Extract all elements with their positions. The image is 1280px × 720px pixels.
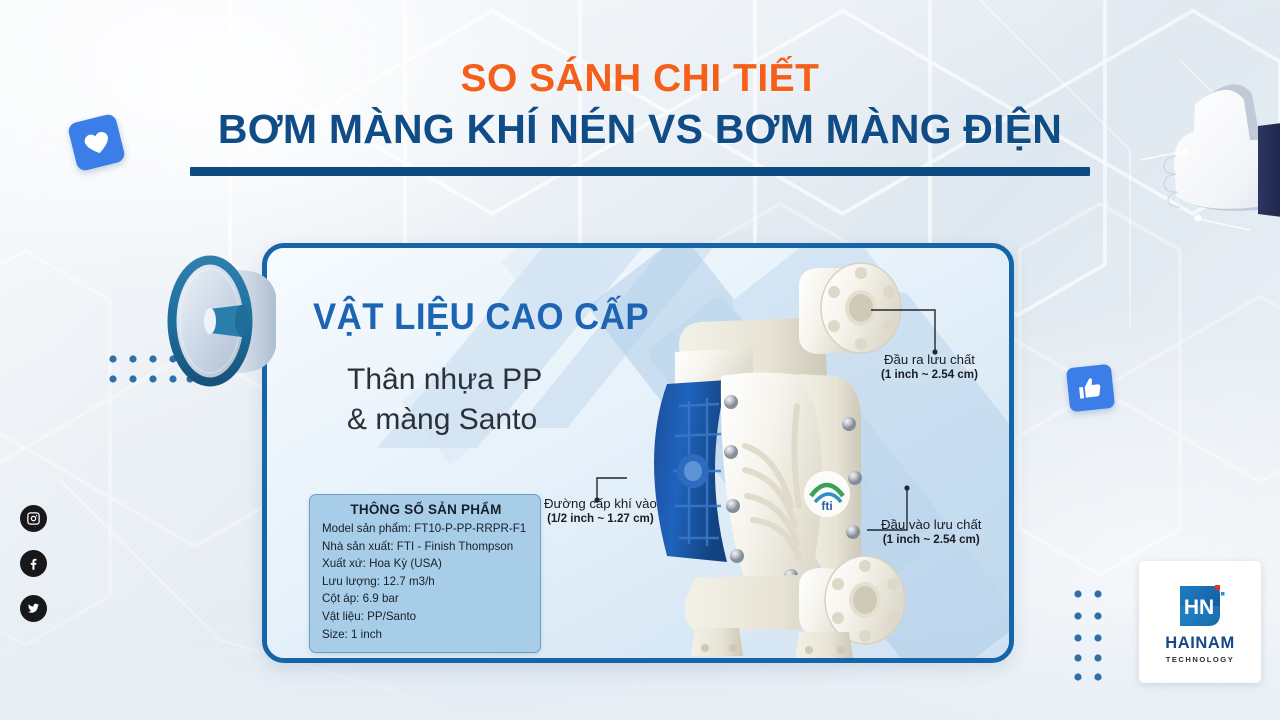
page-header: SO SÁNH CHI TIẾT BƠM MÀNG KHÍ NÉN VS BƠM… <box>0 58 1280 176</box>
title-divider <box>190 167 1090 176</box>
hainam-logo-mark: HN <box>1174 580 1226 632</box>
spec-value: FT10-P-PP-RRPR-F1 <box>414 522 526 535</box>
spec-label: Size: <box>322 628 348 641</box>
spec-value: Hoa Kỳ (USA) <box>369 557 442 570</box>
callout-air-size: (1/2 inch ~ 1.27 cm) <box>544 512 657 526</box>
spec-box-title: THÔNG SỐ SẢN PHẨM <box>322 502 530 517</box>
spec-value: FTI - Finish Thompson <box>397 540 513 553</box>
twitter-icon[interactable] <box>20 595 47 622</box>
instagram-icon[interactable] <box>20 505 47 532</box>
spec-row: Nhà sản xuất: FTI - Finish Thompson <box>322 538 530 556</box>
spec-value: 6.9 bar <box>363 592 399 605</box>
logo-company-name: HAINAM <box>1165 634 1235 653</box>
spec-label: Cột áp: <box>322 592 359 605</box>
spec-value: 12.7 m3/h <box>383 575 435 588</box>
spec-label: Vật liệu: <box>322 610 364 623</box>
spec-label: Lưu lượng: <box>322 575 380 588</box>
logo-tagline: TECHNOLOGY <box>1166 655 1235 664</box>
pump-badge-text: fti <box>821 499 832 513</box>
callout-outlet-size: (1 inch ~ 2.54 cm) <box>881 368 978 382</box>
company-logo: HN HAINAM TECHNOLOGY <box>1139 561 1261 683</box>
card-subheading-line1: Thân nhựa PP <box>347 360 542 400</box>
card-subheading: Thân nhựa PP & màng Santo <box>347 360 542 439</box>
callout-air-title: Đường cấp khí vào <box>544 496 657 512</box>
spec-row: Cột áp: 6.9 bar <box>322 590 530 608</box>
callout-outlet-title: Đầu ra lưu chất <box>881 352 978 368</box>
page-title-top: SO SÁNH CHI TIẾT <box>0 58 1280 100</box>
spec-row: Xuất xứ: Hoa Kỳ (USA) <box>322 555 530 573</box>
product-card: VẬT LIỆU CAO CẤP Thân nhựa PP & màng San… <box>262 243 1014 663</box>
spec-box: THÔNG SỐ SẢN PHẨM Model sản phẩm: FT10-P… <box>309 494 541 653</box>
social-rail <box>20 505 47 622</box>
facebook-icon[interactable] <box>20 550 47 577</box>
callout-air-inlet: Đường cấp khí vào (1/2 inch ~ 1.27 cm) <box>544 496 657 526</box>
logo-mark-text: HN <box>1184 596 1214 619</box>
dot-grid-right <box>1072 588 1110 682</box>
spec-label: Model sản phẩm: <box>322 522 411 535</box>
megaphone-icon <box>148 243 278 398</box>
callout-fluid-outlet: Đầu ra lưu chất (1 inch ~ 2.54 cm) <box>881 352 978 382</box>
diaphragm-pump-image: fti <box>649 256 929 663</box>
thumbs-up-reaction-icon <box>1066 364 1115 412</box>
card-subheading-line2: & màng Santo <box>347 400 542 440</box>
spec-value: 1 inch <box>351 628 382 641</box>
spec-row: Lưu lượng: 12.7 m3/h <box>322 573 530 591</box>
spec-row: Size: 1 inch <box>322 626 530 644</box>
spec-label: Xuất xứ: <box>322 557 366 570</box>
spec-value: PP/Santo <box>367 610 416 623</box>
card-heading: VẬT LIỆU CAO CẤP <box>313 296 649 338</box>
callout-inlet-title: Đầu vào lưu chất <box>881 517 981 533</box>
callout-fluid-inlet: Đầu vào lưu chất (1 inch ~ 2.54 cm) <box>881 517 981 547</box>
spec-row: Vật liệu: PP/Santo <box>322 608 530 626</box>
callout-inlet-size: (1 inch ~ 2.54 cm) <box>881 533 981 547</box>
spec-row: Model sản phẩm: FT10-P-PP-RRPR-F1 <box>322 520 530 538</box>
spec-label: Nhà sản xuất: <box>322 540 394 553</box>
page-title-main: BƠM MÀNG KHÍ NÉN VS BƠM MÀNG ĐIỆN <box>0 106 1280 153</box>
